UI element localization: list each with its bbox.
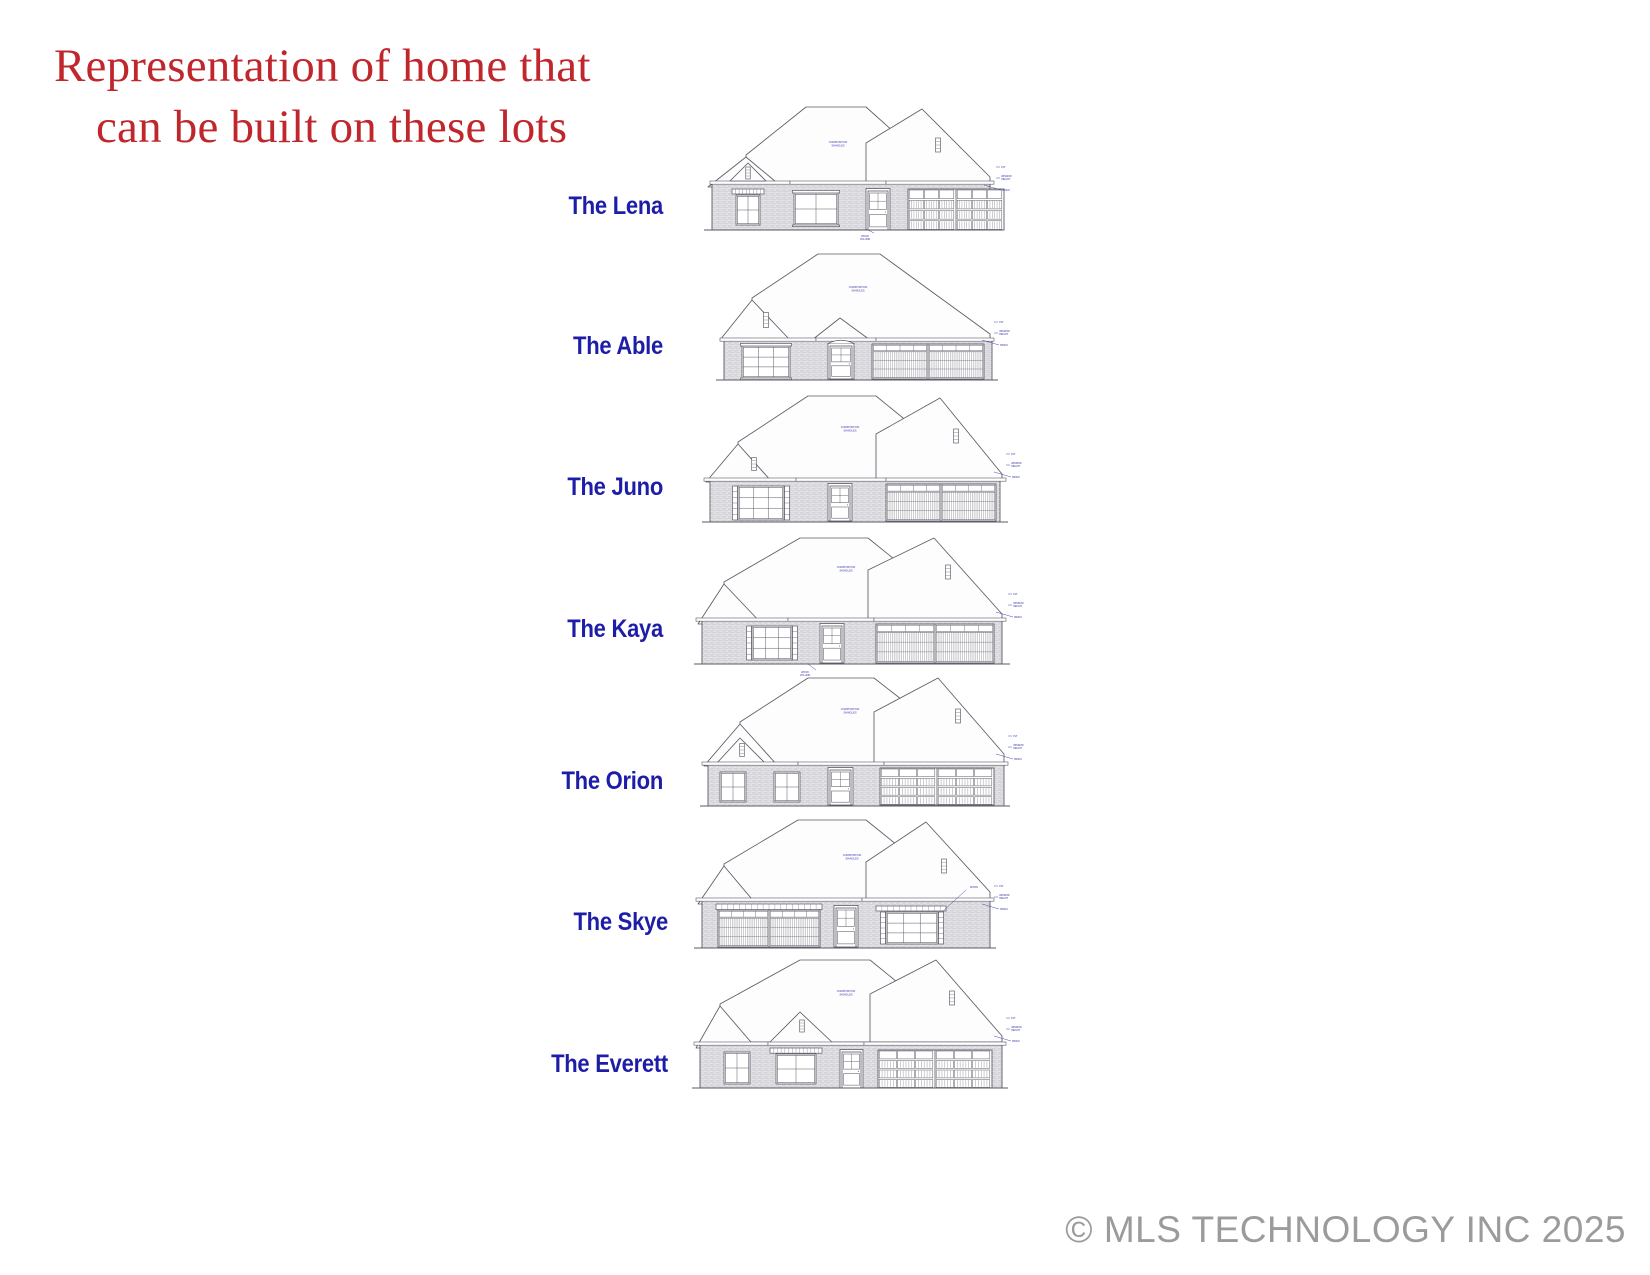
model-row: The LenaCOMPOSITIONSHINGLESWOODCOLUMNPLT… [0,95,1650,247]
svg-text:HEIGHT: HEIGHT [1011,1029,1021,1032]
svg-text:COMPOSITION: COMPOSITION [843,853,862,857]
svg-text:HEIGHT: HEIGHT [1011,465,1021,468]
model-name-label: The Able [293,332,663,361]
svg-text:PLT: PLT [1013,735,1018,738]
svg-text:SHINGLES: SHINGLES [831,143,844,147]
svg-text:SHINGLES: SHINGLES [843,710,856,714]
model-name-label: The Kaya [293,615,663,644]
svg-text:SHINGLES: SHINGLES [843,428,856,432]
svg-text:PLT: PLT [999,885,1004,888]
svg-text:COMPOSITION: COMPOSITION [849,285,868,289]
model-row: The OrionCOMPOSITIONSHINGLESPLTWINDOWHEI… [0,666,1650,818]
svg-text:PLT: PLT [1011,1017,1016,1020]
svg-text:COMPOSITION: COMPOSITION [829,140,848,144]
svg-text:BRICK: BRICK [1000,344,1008,347]
svg-text:PLT: PLT [1001,166,1006,169]
svg-text:SHINGLES: SHINGLES [839,992,852,996]
svg-text:HEIGHT: HEIGHT [1013,747,1023,750]
model-name-label: The Orion [293,767,663,796]
svg-text:HEIGHT: HEIGHT [1001,178,1011,181]
svg-text:BRICK: BRICK [1014,758,1022,761]
home-elevation-drawing: COMPOSITIONSHINGLESWOODCOLUMNPLTWINDOWHE… [690,95,1030,247]
title-line-1: Representation of home that [40,36,800,97]
svg-text:COMPOSITION: COMPOSITION [841,425,860,429]
copyright-watermark: © MLS TECHNOLOGY INC 2025 [1065,1209,1626,1251]
svg-text:COMPOSITION: COMPOSITION [837,565,856,569]
home-elevation-drawing: COMPOSITIONSHINGLESPLTWINDOWHEIGHTBRICK [690,950,1030,1102]
svg-text:BRICK: BRICK [1014,616,1022,619]
svg-text:BRICK: BRICK [1012,476,1020,479]
svg-text:HEIGHT: HEIGHT [1013,605,1023,608]
svg-text:COMPOSITION: COMPOSITION [841,707,860,711]
flyer-page: Representation of home that can be built… [0,0,1650,1275]
model-row: The AbleCOMPOSITIONSHINGLESPLTWINDOWHEIG… [0,240,1650,392]
svg-text:BRICK: BRICK [1012,1040,1020,1043]
svg-text:SHINGLES: SHINGLES [845,856,858,860]
svg-text:SHINGLES: SHINGLES [839,568,852,572]
model-name-label: The Everett [298,1050,668,1079]
svg-text:PLT: PLT [999,321,1004,324]
home-elevation-drawing: COMPOSITIONSHINGLESPLTWINDOWHEIGHTBRICK [690,240,1030,392]
model-row: The EverettCOMPOSITIONSHINGLESPLTWINDOWH… [0,950,1650,1102]
svg-text:BRICK: BRICK [1002,189,1010,192]
model-row: The SkyeCOMPOSITIONSHINGLESWOODPLTWINDOW… [0,808,1650,960]
home-elevation-drawing: COMPOSITIONSHINGLESPLTWINDOWHEIGHTBRICK [690,382,1030,534]
home-elevation-drawing: COMPOSITIONSHINGLESWOODPLTWINDOWHEIGHTBR… [690,808,1030,960]
svg-text:COMPOSITION: COMPOSITION [837,989,856,993]
home-elevation-drawing: COMPOSITIONSHINGLESWOODCOLUMNPLTWINDOWHE… [690,524,1030,676]
model-row: The JunoCOMPOSITIONSHINGLESPLTWINDOWHEIG… [0,382,1650,534]
svg-text:PLT: PLT [1011,453,1016,456]
svg-text:BRICK: BRICK [1000,908,1008,911]
model-name-label: The Juno [293,473,663,502]
model-name-label: The Skye [298,908,668,937]
home-elevation-drawing: COMPOSITIONSHINGLESPLTWINDOWHEIGHTBRICK [690,666,1030,818]
svg-text:PLT: PLT [1013,593,1018,596]
model-name-label: The Lena [293,192,663,221]
svg-text:HEIGHT: HEIGHT [999,333,1009,336]
svg-text:WOOD: WOOD [970,886,978,889]
svg-text:HEIGHT: HEIGHT [999,897,1009,900]
model-row: The KayaCOMPOSITIONSHINGLESWOODCOLUMNPLT… [0,524,1650,676]
svg-text:SHINGLES: SHINGLES [851,288,864,292]
